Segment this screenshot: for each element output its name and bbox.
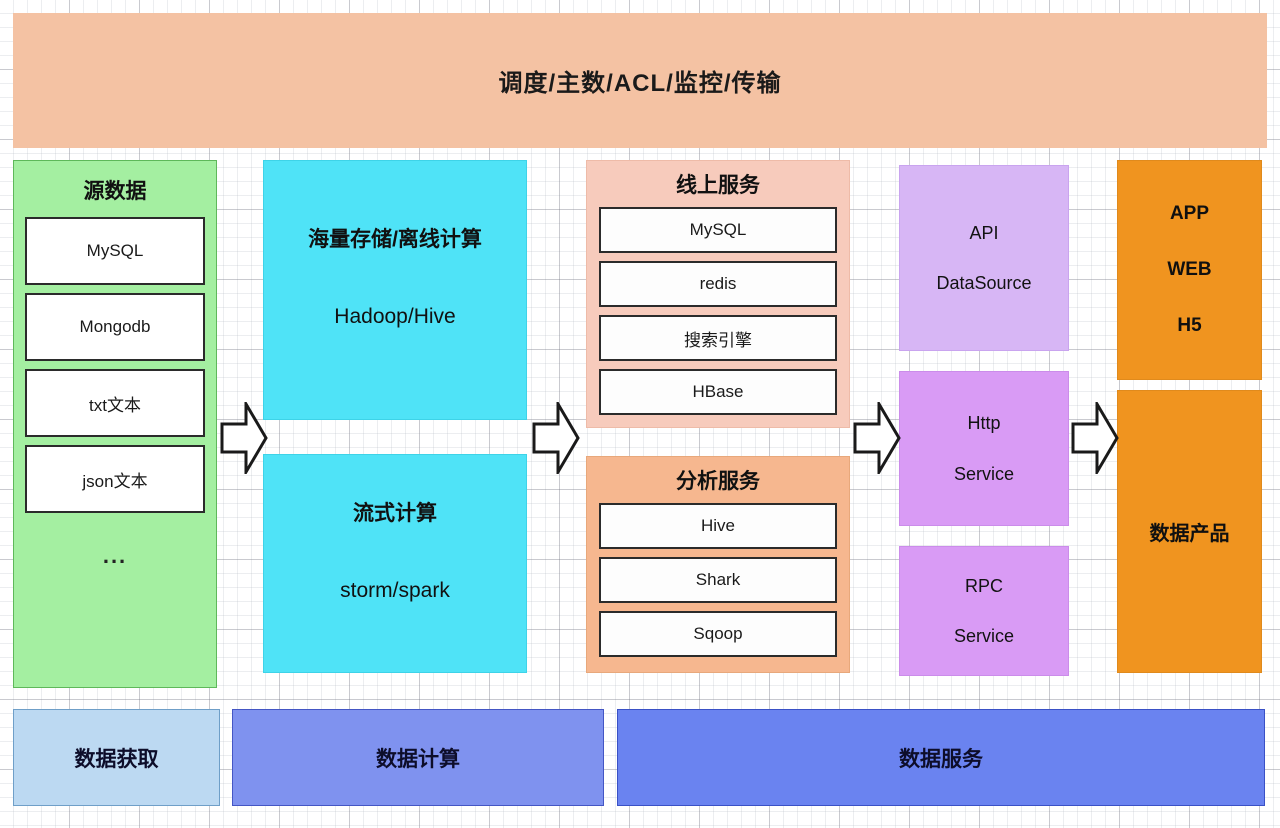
http-service-box: Http Service [899, 371, 1069, 526]
online-service-box: 线上服务 MySQL redis 搜索引擎 HBase [586, 160, 850, 428]
stage-data-acquisition: 数据获取 [13, 709, 220, 806]
analysis-service-item-hive: Hive [599, 503, 837, 549]
stage-data-service-label: 数据服务 [899, 743, 983, 773]
analysis-service-box: 分析服务 Hive Shark Sqoop [586, 456, 850, 673]
batch-storage-title: 海量存储/离线计算 [308, 223, 482, 253]
stream-compute-box: 流式计算 storm/spark [263, 454, 527, 673]
data-product-label: 数据产品 [1150, 517, 1230, 546]
source-item-more: ... [103, 543, 127, 569]
stream-compute-tech: storm/spark [340, 579, 450, 603]
arrow-api-to-output-icon [1071, 402, 1119, 474]
arrow-source-to-compute-icon [220, 402, 268, 474]
architecture-diagram-canvas: 调度/主数/ACL/监控/传输 源数据 MySQL Mongodb txt文本 … [0, 0, 1280, 828]
stage-data-acquisition-label: 数据获取 [75, 743, 159, 773]
http-service-label-line2: Service [954, 461, 1014, 487]
rpc-service-box: RPC Service [899, 546, 1069, 676]
online-service-item-search-engine: 搜索引擎 [599, 315, 837, 361]
stage-data-computation: 数据计算 [232, 709, 604, 806]
source-data-title: 源数据 [84, 175, 147, 205]
source-item-mysql: MySQL [25, 217, 205, 285]
stage-data-computation-label: 数据计算 [376, 743, 460, 773]
client-channel-app: APP [1170, 203, 1209, 225]
batch-storage-compute-box: 海量存储/离线计算 Hadoop/Hive [263, 160, 527, 420]
client-channel-web: WEB [1167, 259, 1211, 281]
client-channels-box: APP WEB H5 [1117, 160, 1262, 380]
online-service-title: 线上服务 [676, 169, 760, 199]
online-service-item-mysql: MySQL [599, 207, 837, 253]
api-datasource-box: API DataSource [899, 165, 1069, 351]
api-label: API [969, 220, 998, 246]
client-channel-h5: H5 [1177, 315, 1201, 337]
datasource-label: DataSource [936, 270, 1031, 296]
online-service-item-redis: redis [599, 261, 837, 307]
analysis-service-item-sqoop: Sqoop [599, 611, 837, 657]
rpc-service-label-line2: Service [954, 623, 1014, 649]
stream-compute-title: 流式计算 [353, 497, 437, 527]
platform-banner: 调度/主数/ACL/监控/传输 [13, 13, 1267, 148]
stage-data-service: 数据服务 [617, 709, 1265, 806]
online-service-item-hbase: HBase [599, 369, 837, 415]
analysis-service-item-shark: Shark [599, 557, 837, 603]
platform-banner-label: 调度/主数/ACL/监控/传输 [499, 63, 782, 98]
data-product-box: 数据产品 [1117, 390, 1262, 673]
rpc-service-label-line1: RPC [965, 573, 1003, 599]
arrow-service-to-api-icon [853, 402, 901, 474]
source-data-column: 源数据 MySQL Mongodb txt文本 json文本 ... [13, 160, 217, 688]
arrow-compute-to-service-icon [532, 402, 580, 474]
source-item-json: json文本 [25, 445, 205, 513]
batch-storage-tech: Hadoop/Hive [334, 305, 455, 329]
analysis-service-title: 分析服务 [676, 465, 760, 495]
source-item-txt: txt文本 [25, 369, 205, 437]
http-service-label-line1: Http [967, 410, 1000, 436]
source-item-mongodb: Mongodb [25, 293, 205, 361]
